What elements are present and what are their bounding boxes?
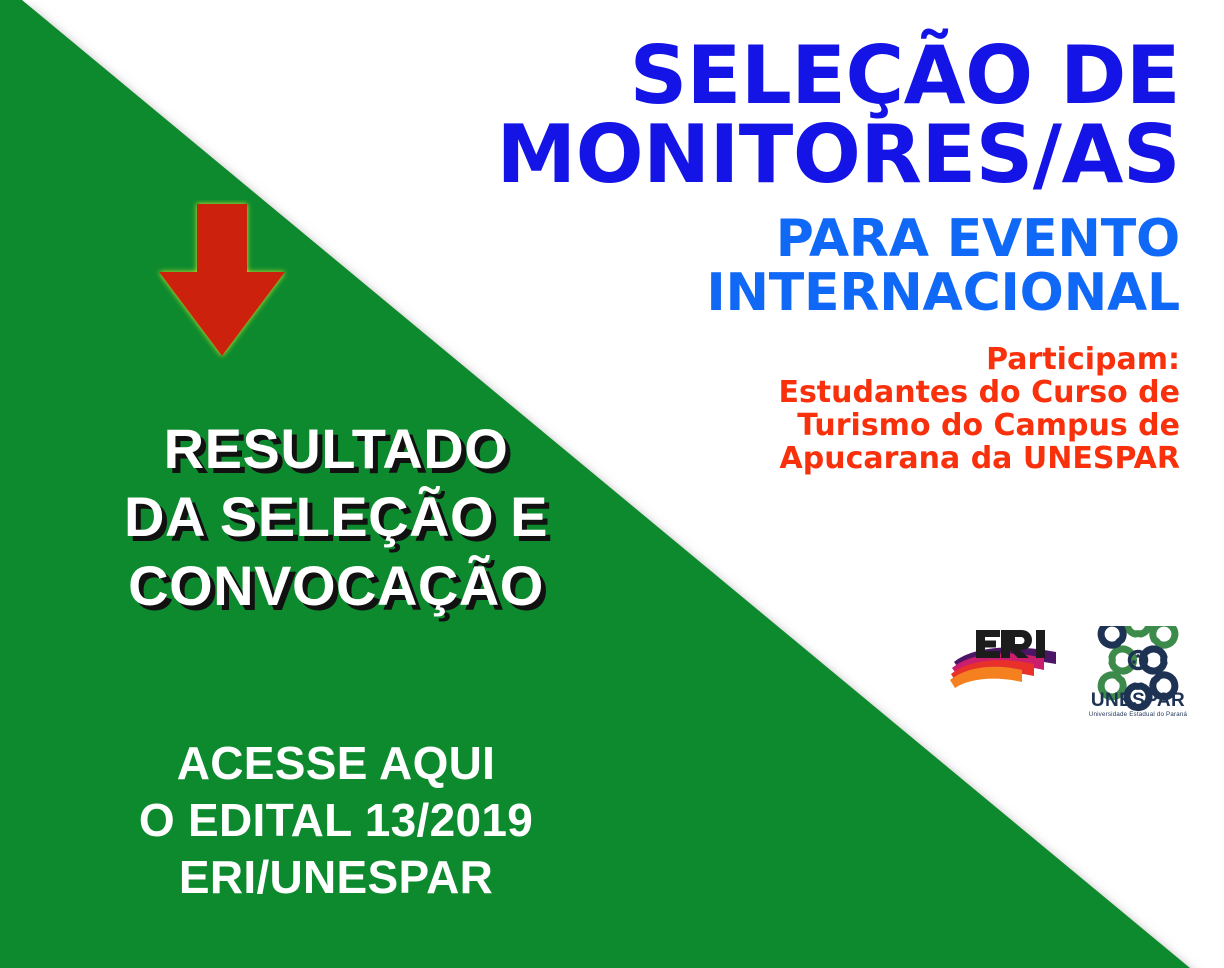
result-line-1: RESULTADO bbox=[16, 415, 656, 483]
subtitle: PARA EVENTO INTERNACIONAL bbox=[440, 194, 1180, 320]
poster-canvas: SELEÇÃO DE MONITORES/AS PARA EVENTO INTE… bbox=[0, 0, 1224, 968]
access-line-2: O EDITAL 13/2019 bbox=[16, 792, 656, 849]
logo-row: UNESPAR Universidade Estadual do Paraná bbox=[948, 626, 1190, 727]
subtitle-line-1: PARA EVENTO bbox=[440, 212, 1180, 266]
unespar-tagline: Universidade Estadual do Paraná bbox=[1089, 711, 1188, 718]
result-line-2: DA SELEÇÃO E bbox=[16, 483, 656, 551]
subtitle-line-2: INTERNACIONAL bbox=[440, 266, 1180, 320]
participants-line-1: Participam: bbox=[440, 343, 1180, 376]
unespar-logo-container: UNESPAR Universidade Estadual do Paraná bbox=[1086, 626, 1190, 727]
access-call-to-action[interactable]: ACESSE AQUI O EDITAL 13/2019 ERI/UNESPAR bbox=[16, 735, 656, 906]
down-arrow-icon bbox=[155, 200, 289, 360]
unespar-logo: UNESPAR Universidade Estadual do Paraná bbox=[1086, 626, 1190, 722]
title-line-1: SELEÇÃO DE bbox=[440, 36, 1180, 115]
eri-logo bbox=[948, 626, 1060, 694]
result-line-3: CONVOCAÇÃO bbox=[16, 552, 656, 620]
arrow-shape bbox=[159, 204, 285, 356]
eri-logo-container bbox=[948, 626, 1060, 699]
unespar-wordmark: UNESPAR bbox=[1091, 690, 1185, 711]
result-heading: RESULTADO DA SELEÇÃO E CONVOCAÇÃO bbox=[16, 415, 656, 620]
access-line-3: ERI/UNESPAR bbox=[16, 849, 656, 906]
right-text-column: SELEÇÃO DE MONITORES/AS PARA EVENTO INTE… bbox=[440, 0, 1180, 475]
title-line-2: MONITORES/AS bbox=[440, 115, 1180, 194]
access-line-1: ACESSE AQUI bbox=[16, 735, 656, 792]
participants-line-2: Estudantes do Curso de bbox=[440, 376, 1180, 409]
page-title: SELEÇÃO DE MONITORES/AS bbox=[440, 0, 1180, 194]
